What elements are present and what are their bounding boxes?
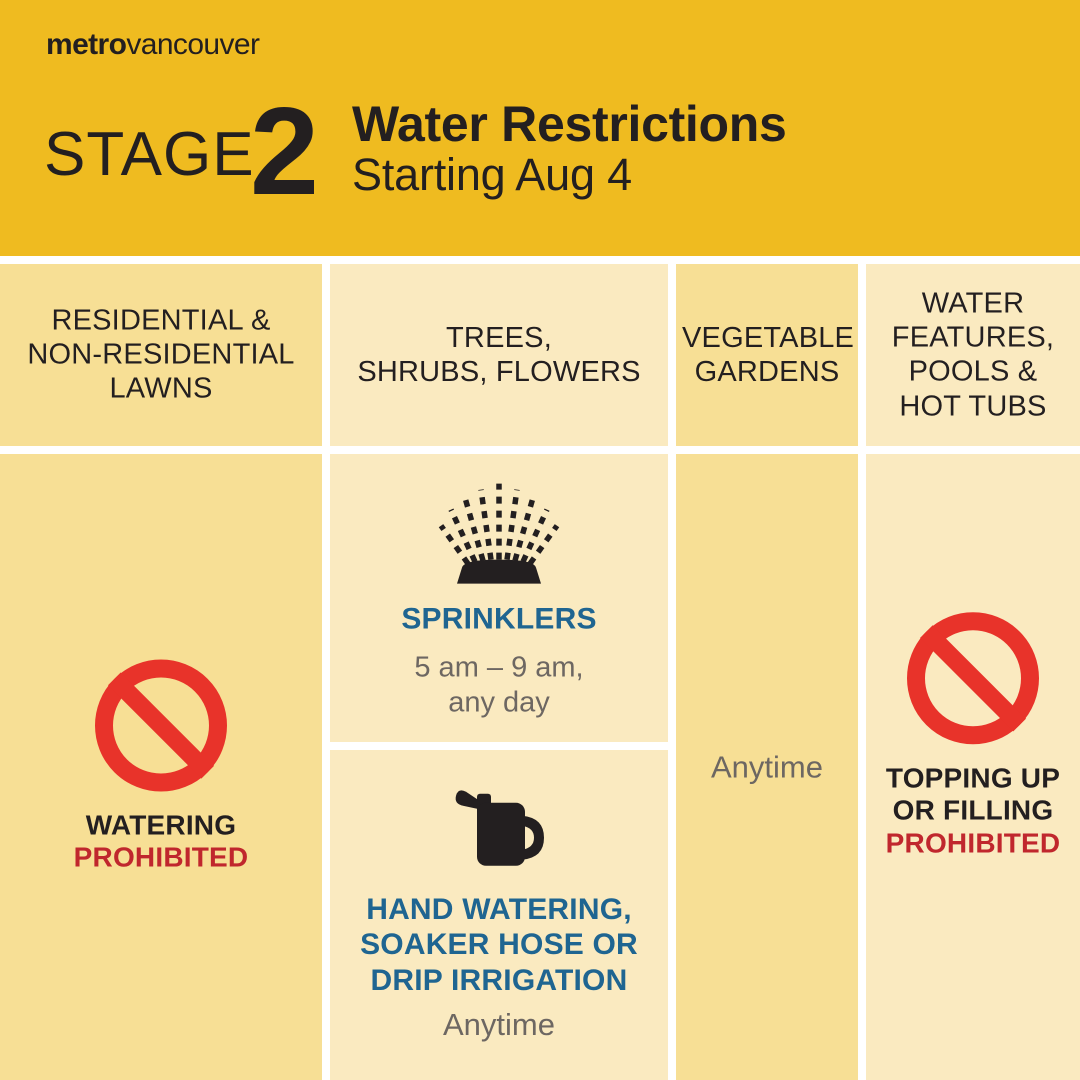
column-header-water-features-text: WATER FEATURES, POOLS & HOT TUBS (866, 287, 1080, 424)
spacer (338, 588, 660, 602)
watering-can-icon (444, 774, 554, 874)
stage-number: 2 (250, 90, 319, 214)
sprinklers-detail-line2: any day (338, 686, 660, 721)
spacer (338, 997, 660, 1005)
column-header-vegetable-gardens-text: VEGETABLE GARDENS (676, 321, 858, 389)
header-line: RESIDENTIAL & (6, 304, 316, 338)
stage-word: STAGE (44, 124, 255, 186)
column-body-water-features: TOPPING UP OR FILLING PROHIBITED (866, 454, 1080, 1080)
sprinklers-detail-line1: 5 am – 9 am, (338, 651, 660, 686)
column-header-vegetable-gardens: VEGETABLE GARDENS (676, 264, 858, 446)
sprinklers-content: SPRINKLERS 5 am – 9 am, any day (330, 476, 668, 721)
column-body-trees-handwatering: HAND WATERING, SOAKER HOSE OR DRIP IRRIG… (330, 750, 668, 1080)
prohibited-icon (907, 612, 1039, 744)
handwatering-content: HAND WATERING, SOAKER HOSE OR DRIP IRRIG… (330, 774, 668, 1042)
header-line: FEATURES, (872, 321, 1074, 355)
column-body-lawns: WATERING PROHIBITED (0, 454, 322, 1080)
sprinkler-icon-base (457, 560, 541, 584)
sprinkler-icon (424, 476, 574, 588)
prohibited-icon (95, 660, 227, 792)
column-header-lawns-text: RESIDENTIAL & NON-RESIDENTIAL LAWNS (0, 304, 322, 407)
column-header-trees-text: TREES, SHRUBS, FLOWERS (330, 321, 668, 389)
vegetable-gardens-content: Anytime (676, 748, 858, 785)
column-header-lawns: RESIDENTIAL & NON-RESIDENTIAL LAWNS (0, 264, 322, 446)
column-header-trees: TREES, SHRUBS, FLOWERS (330, 264, 668, 446)
header-line: VEGETABLE (682, 321, 852, 355)
metro-vancouver-logo: metrovancouver (46, 28, 259, 62)
spacer (338, 637, 660, 651)
lawns-label-status: PROHIBITED (8, 842, 314, 874)
page-subtitle: Starting Aug 4 (352, 151, 787, 199)
handwatering-detail: Anytime (338, 1005, 660, 1042)
header-line: POOLS & (872, 355, 1074, 389)
header-banner: metrovancouver STAGE 2 Water Restriction… (0, 0, 1080, 256)
lawns-label-action: WATERING (8, 810, 314, 842)
header-line: WATER (872, 287, 1074, 321)
title-block: Water Restrictions Starting Aug 4 (352, 98, 787, 199)
water-features-content: TOPPING UP OR FILLING PROHIBITED (866, 612, 1080, 859)
header-line: GARDENS (682, 355, 852, 389)
logo-light-part: vancouver (126, 28, 259, 61)
handwatering-title-line1: HAND WATERING, (338, 892, 660, 927)
spacer (338, 874, 660, 892)
header-line: HOT TUBS (872, 389, 1074, 423)
lawns-content: WATERING PROHIBITED (0, 660, 322, 875)
handwatering-title-line3: DRIP IRRIGATION (338, 962, 660, 997)
header-line: SHRUBS, FLOWERS (336, 355, 662, 389)
water-features-label-line1: TOPPING UP (874, 762, 1072, 794)
stage-title-row: STAGE 2 Water Restrictions Starting Aug … (0, 96, 1080, 226)
water-features-label-status: PROHIBITED (874, 827, 1072, 859)
column-body-vegetable-gardens: Anytime (676, 454, 858, 1080)
header-line: LAWNS (6, 372, 316, 406)
vegetable-gardens-value: Anytime (684, 748, 850, 785)
handwatering-title-line2: SOAKER HOSE OR (338, 927, 660, 962)
sprinklers-title: SPRINKLERS (338, 602, 660, 637)
header-line: NON-RESIDENTIAL (6, 338, 316, 372)
header-line: TREES, (336, 321, 662, 355)
water-features-label-line2: OR FILLING (874, 794, 1072, 826)
spacer (874, 744, 1072, 762)
logo-bold-part: metro (46, 28, 126, 61)
page-title: Water Restrictions (352, 98, 787, 151)
infographic-root: metrovancouver STAGE 2 Water Restriction… (0, 0, 1080, 1080)
column-header-water-features: WATER FEATURES, POOLS & HOT TUBS (866, 264, 1080, 446)
spacer (8, 792, 314, 810)
column-body-trees-sprinklers: SPRINKLERS 5 am – 9 am, any day (330, 454, 668, 742)
